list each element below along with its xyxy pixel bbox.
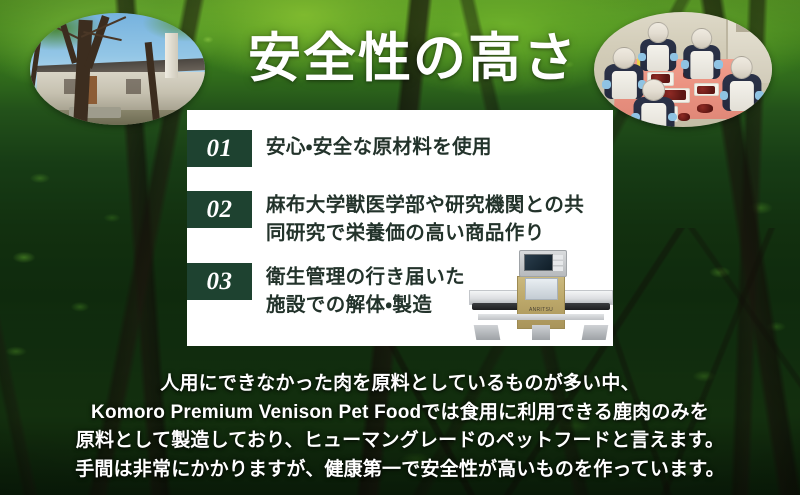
worker-hairnet — [613, 47, 636, 69]
feature-number-badge: 02 — [187, 191, 252, 228]
belt-left — [472, 303, 520, 309]
paragraph-line: 手間は非常にかかりますが、健康第一で安全性が高いものを作っています。 — [0, 456, 800, 485]
worker-apron — [690, 51, 713, 78]
worker-glove — [755, 91, 764, 100]
worker — [633, 79, 674, 127]
worker-apron — [730, 81, 754, 111]
feature-number-badge: 01 — [187, 130, 252, 167]
detector-aperture — [525, 278, 558, 300]
feature-text: 安心・安全な原材料を使用 — [266, 130, 492, 162]
worker-glove — [602, 80, 611, 88]
feature-item-02: 02 麻布大学獣医学部や研究機関との共 同研究で栄養価の高い商品作り — [187, 191, 584, 248]
meat-piece — [697, 104, 713, 113]
meat-piece — [678, 113, 690, 121]
feature-text: 麻布大学獣医学部や研究機関との共 同研究で栄養価の高い商品作り — [266, 191, 584, 248]
machine-brand-label: ANRITSU — [522, 305, 561, 314]
workers-processing-photo — [594, 12, 772, 127]
worker-hairnet — [730, 56, 753, 79]
control-panel — [519, 250, 567, 278]
worker-hairnet — [648, 22, 669, 42]
machine-leg — [474, 325, 501, 340]
description-paragraph: 人用にできなかった肉を原料としているものが多い中、 Komoro Premium… — [0, 370, 800, 484]
control-keypad — [553, 255, 563, 271]
machine-leg — [582, 325, 609, 340]
worker — [722, 56, 761, 111]
worker-glove — [638, 53, 646, 61]
worker-glove — [631, 113, 640, 121]
worker — [683, 28, 720, 79]
machine-shelf — [478, 314, 604, 320]
facility-building-photo — [30, 13, 205, 125]
belt-right — [562, 303, 610, 309]
feature-number-badge: 03 — [187, 263, 252, 300]
promo-banner: 安全性の高さ ANRITSU 01 安心・安全な原材料を使用 02 麻布大学獣医… — [0, 0, 800, 495]
worker-hairnet — [642, 79, 666, 101]
worker-glove — [681, 60, 689, 68]
metal-detector-machine: ANRITSU — [466, 248, 616, 340]
paragraph-line: 人用にできなかった肉を原料としているものが多い中、 — [0, 370, 800, 399]
feature-item-03: 03 衛生管理の行き届いた 施設での解体・製造 — [187, 263, 465, 320]
control-screen — [524, 254, 553, 271]
worker — [640, 22, 676, 70]
machine-leg — [532, 325, 550, 340]
feature-item-01: 01 安心・安全な原材料を使用 — [187, 130, 492, 167]
feature-text: 衛生管理の行き届いた 施設での解体・製造 — [266, 263, 465, 320]
worker-glove — [720, 91, 729, 100]
meat-tray — [694, 83, 719, 96]
worker-glove — [668, 113, 677, 121]
paragraph-line: 原料として製造しており、ヒューマングレードのペットフードと言えます。 — [0, 427, 800, 456]
building-wall — [37, 72, 205, 110]
paragraph-line: Komoro Premium Venison Pet Foodでは食用に利用でき… — [0, 399, 800, 428]
worker-glove — [670, 53, 678, 61]
page-title: 安全性の高さ — [248, 24, 578, 94]
worker-apron — [647, 45, 669, 71]
worker-apron — [641, 103, 666, 127]
building-chimney — [165, 33, 178, 78]
worker-hairnet — [691, 28, 713, 49]
